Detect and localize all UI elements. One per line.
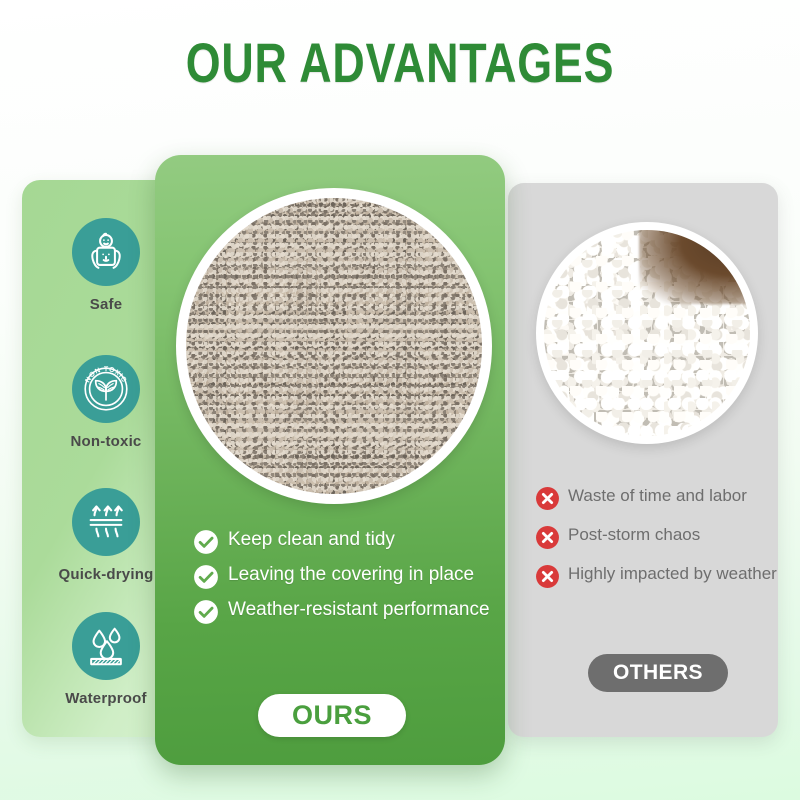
list-item-label: Keep clean and tidy (228, 528, 395, 551)
list-item: Weather-resistant performance (193, 598, 493, 625)
ours-benefit-list: Keep clean and tidy Leaving the covering… (193, 528, 493, 633)
soil-patch (639, 230, 750, 304)
others-badge-label: OTHERS (613, 661, 703, 685)
list-item: Highly impacted by weather (535, 563, 783, 589)
page-title: OUR ADVANTAGES (80, 32, 720, 94)
ours-gravel-photo-inner (186, 198, 482, 494)
waterproof-droplets-icon (72, 612, 140, 680)
list-item: Leaving the covering in place (193, 563, 493, 590)
ours-gravel-photo (176, 188, 492, 504)
x-circle-icon (535, 486, 560, 511)
page-title-wrap: OUR ADVANTAGES (0, 32, 800, 94)
check-circle-icon (193, 599, 219, 625)
list-item-label: Weather-resistant performance (228, 598, 490, 621)
quick-drying-airflow-icon (72, 488, 140, 556)
ours-badge[interactable]: OURS (258, 694, 406, 737)
others-drawback-list: Waste of time and labor Post-storm chaos… (535, 485, 783, 602)
list-item-label: Leaving the covering in place (228, 563, 474, 586)
list-item: Keep clean and tidy (193, 528, 493, 555)
check-circle-icon (193, 529, 219, 555)
list-item-label: Highly impacted by weather (568, 563, 777, 585)
check-circle-icon (193, 564, 219, 590)
others-gravel-photo-inner (544, 230, 750, 436)
others-gravel-photo (536, 222, 758, 444)
non-toxic-leaf-icon: NON TOXIC (72, 355, 140, 423)
list-item: Waste of time and labor (535, 485, 783, 511)
list-item-label: Post-storm chaos (568, 524, 700, 546)
list-item: Post-storm chaos (535, 524, 783, 550)
fine-gravel-texture (186, 198, 482, 494)
x-circle-icon (535, 564, 560, 589)
others-badge[interactable]: OTHERS (588, 654, 728, 692)
x-circle-icon (535, 525, 560, 550)
advantages-infographic: OUR ADVANTAGES Safe (0, 0, 800, 800)
ours-badge-label: OURS (292, 700, 372, 731)
svg-text:NON TOXIC: NON TOXIC (85, 366, 128, 384)
baby-safe-icon (72, 218, 140, 286)
list-item-label: Waste of time and labor (568, 485, 747, 507)
